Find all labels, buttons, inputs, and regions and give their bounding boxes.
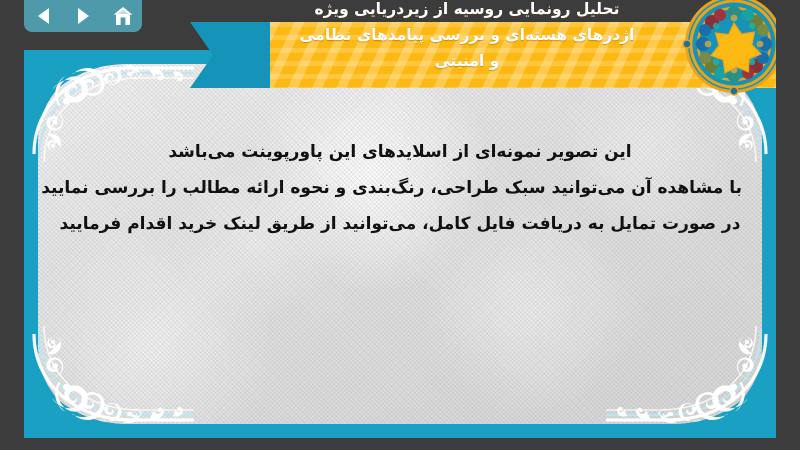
body-line-3: در صورت تمایل به دریافت فایل کامل، می‌تو… <box>58 206 742 242</box>
title-banner: تحلیل رونمایی روسیه از زیردریایی ویژه اژ… <box>190 0 800 108</box>
left-edge-strip <box>0 0 24 450</box>
bottom-edge-strip <box>0 438 800 450</box>
slide-frame: این تصویر نمونه‌ای از اسلایدهای این پاور… <box>24 50 776 438</box>
body-line-2: با مشاهده آن می‌توانید سبک طراحی، رنگ‌بن… <box>58 170 742 206</box>
persian-medallion-ornament-icon <box>682 0 786 96</box>
slide-viewer: این تصویر نمونه‌ای از اسلایدهای این پاور… <box>0 0 800 450</box>
next-triangle-icon <box>75 7 92 25</box>
home-icon <box>113 7 133 26</box>
prev-triangle-icon <box>35 7 52 25</box>
next-slide-button[interactable] <box>70 4 96 28</box>
navigation-toolbar <box>24 0 142 32</box>
slide-canvas <box>38 64 762 424</box>
body-line-1: این تصویر نمونه‌ای از اسلایدهای این پاور… <box>58 134 742 170</box>
title-line-3: و امنیتی <box>220 48 714 74</box>
title-line-2: اژدرهای هسته‌ای و بررسی پیامدهای نظامی <box>220 22 714 48</box>
slide-body-text: این تصویر نمونه‌ای از اسلایدهای این پاور… <box>58 134 742 242</box>
title-line-1: تحلیل رونمایی روسیه از زیردریایی ویژه <box>220 0 714 22</box>
prev-slide-button[interactable] <box>30 4 56 28</box>
right-edge-strip <box>776 0 800 450</box>
home-button[interactable] <box>110 4 136 28</box>
